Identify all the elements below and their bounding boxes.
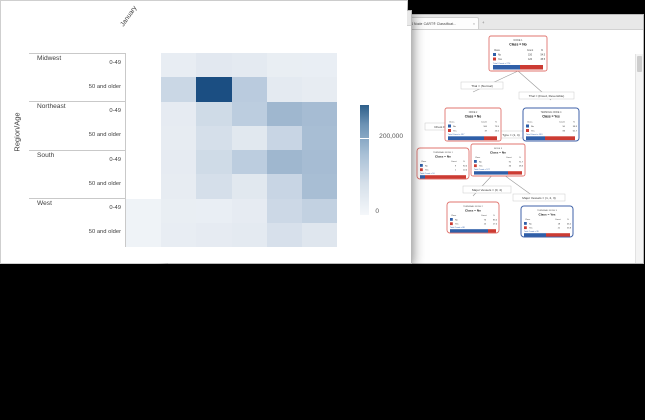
cart-node-3-class: Class = No [490, 150, 506, 154]
cart-node-root-h1: Count [527, 49, 533, 52]
heatmap-group-midwest-name: Midwest [37, 55, 61, 62]
cart-node-t3-class: Class = Yes [538, 212, 555, 216]
cart-node-3-h1: Count [506, 156, 512, 159]
cart-node-3-h2: % [519, 157, 521, 159]
heatmap-cell [232, 77, 267, 101]
close-icon[interactable]: × [473, 22, 475, 26]
heatmap-west-sub-0: 0-49 [109, 205, 121, 211]
cart-edge-label-5: Major Vessels = (1, 2, 3) [522, 196, 555, 200]
heatmap-group-northeast-name: Northeast [37, 103, 66, 110]
heatmap-cell [302, 77, 337, 101]
heatmap-cell [161, 53, 196, 77]
cart-node-2[interactable]: NODE 2 Class = No Class Count % No 100 7… [445, 108, 501, 141]
cart-window-body: HeartTableAndResults.MTW 4 Node CART® Cl… [401, 30, 643, 264]
heatmap-inner: Region/Age January Midwest 0-49 50 and o… [1, 1, 407, 263]
cart-node-3-h0: Class [475, 157, 480, 159]
heatmap-y-axis-title: Region/Age [13, 112, 22, 151]
heatmap-cell [232, 53, 267, 77]
cart-node-root-r0c2: 54.5 [541, 55, 546, 57]
cart-node-3[interactable]: NODE 3 Class = No Class Count % No 91 71… [471, 144, 525, 176]
heatmap-cell [302, 150, 337, 174]
cart-node-3-total: Total Count = 127 [474, 168, 491, 171]
cart-node-root-total: Total Count = 270 [493, 62, 511, 65]
cart-node-t3-total: Total Count = 39 [524, 230, 540, 233]
heatmap-cell [161, 150, 196, 174]
heatmap-cell [302, 174, 337, 198]
cart-node-t4-h2: % [573, 122, 575, 124]
heatmap-cell [302, 223, 337, 247]
cart-node-t1-r1c0: Yes [425, 170, 428, 172]
heatmap-cell [196, 150, 231, 174]
heatmap-south-sub-1: 50 and older [89, 181, 121, 187]
heatmap-cell [232, 174, 267, 198]
cart-vscroll-thumb[interactable] [637, 56, 642, 72]
cart-node-t4-total: Total Count = 133 [526, 133, 543, 136]
heatmap-cell [126, 150, 161, 174]
cart-vertical-scrollbar[interactable] [635, 54, 643, 264]
cart-node-t3-h1: Count [555, 218, 561, 221]
cart-node-2-h0: Class [449, 122, 455, 124]
cart-node-t3-h0: Class [525, 219, 530, 221]
heatmap-group-south: South 0-49 50 and older [29, 151, 125, 199]
heatmap-cell [232, 223, 267, 247]
cart-titlebar[interactable]: 4 Node CART® Classificat... × + [401, 15, 643, 30]
heatmap-cell [302, 199, 337, 223]
cart-node-terminal-2[interactable]: TERMINAL NODE 2 Class = No Class Count %… [447, 202, 499, 233]
cart-edge-label-4: Major Vessels = (0, 4) [472, 188, 502, 192]
heatmap-group-midwest: Midwest 0-49 50 and older [29, 54, 125, 102]
heatmap-cell [196, 199, 231, 223]
add-tab-icon[interactable]: + [482, 20, 484, 25]
cart-node-t4-class: Class = Yes [542, 115, 560, 119]
colorbar-max-label: 200,000 [379, 133, 403, 140]
cart-node-t1-h2: % [463, 161, 465, 163]
cart-node-t2-r1c0: Yes [455, 224, 458, 226]
heatmap-group-west-name: West [37, 200, 52, 207]
cart-edge-label-0: Thal = (Normal) [471, 84, 493, 88]
heatmap-cell [126, 126, 161, 150]
cart-node-terminal-4[interactable]: TERMINAL NODE 4 Class = Yes Class Count … [523, 108, 579, 141]
window-heatmap[interactable]: Region/Age January Midwest 0-49 50 and o… [0, 0, 408, 264]
cart-node-root[interactable]: NODE 1 Class = No Class Count % No 150 5… [489, 36, 547, 71]
cart-node-3-r1c0: Yes [479, 166, 482, 168]
window-cart-classification[interactable]: 4 Node CART® Classificat... × + HeartTab… [400, 14, 644, 264]
heatmap-cell [196, 223, 231, 247]
heatmap-cell [302, 126, 337, 150]
heatmap-cell [126, 53, 161, 77]
cart-node-2-total: Total Count = 137 [448, 133, 465, 136]
heatmap-midwest-sub-1: 50 and older [89, 84, 121, 90]
colorbar-min-label: 0 [375, 208, 379, 215]
cart-node-root-class: Class = No [509, 43, 526, 47]
heatmap-cell [196, 174, 231, 198]
cart-node-2-h1: Count [481, 121, 487, 124]
heatmap-cell [126, 223, 161, 247]
cart-node-t2-total: Total Count = 88 [450, 226, 466, 229]
heatmap-cell [267, 102, 302, 126]
heatmap-cell [161, 126, 196, 150]
heatmap-cell [302, 53, 337, 77]
cart-node-terminal-3[interactable]: TERMINAL NODE 3 Class = Yes Class Count … [521, 206, 573, 237]
cart-node-t3-h2: % [567, 219, 569, 221]
desktop-background: 4 Node CART® Classificat... × + HeartTab… [0, 0, 645, 420]
cart-node-t4-h0: Class [527, 122, 533, 124]
heatmap-cell [126, 199, 161, 223]
heatmap-cells [125, 53, 337, 247]
heatmap-cell [302, 102, 337, 126]
heatmap-west-sub-1: 50 and older [89, 229, 121, 235]
cart-node-t2-h2: % [493, 215, 495, 217]
heatmap-cell [196, 77, 231, 101]
heatmap-cell [267, 199, 302, 223]
heatmap-cell [126, 174, 161, 198]
cart-node-t1-total: Total Count = 10 [420, 172, 436, 175]
heatmap-cell [161, 174, 196, 198]
heatmap-midwest-sub-0: 0-49 [109, 60, 121, 66]
heatmap-group-northeast: Northeast 0-49 50 and older [29, 102, 125, 150]
heatmap-cell [126, 102, 161, 126]
cart-node-t4-h1: Count [559, 121, 565, 124]
cart-node-t1-h0: Class [421, 161, 426, 163]
heatmap-cell [161, 77, 196, 101]
heatmap-cell [267, 174, 302, 198]
cart-node-terminal-1[interactable]: TERMINAL NODE 1 Class = No Class Count %… [417, 148, 469, 179]
cart-edge-label-1: Thal = (Fixed, Reversible) [529, 94, 565, 98]
cart-node-t3-r1c0: Yes [529, 228, 532, 230]
heatmap-group-south-name: South [37, 152, 54, 159]
heatmap-cell [126, 77, 161, 101]
cart-node-t1-class: Class = No [435, 154, 451, 158]
cart-node-root-r1c2: 45.5 [541, 59, 546, 61]
heatmap-cell [267, 126, 302, 150]
heatmap-cell [232, 199, 267, 223]
heatmap-group-west: West 0-49 50 and older [29, 199, 125, 247]
cart-node-root-h2: % [541, 50, 543, 52]
cart-tab-label: 4 Node CART® Classificat... [411, 22, 471, 26]
heatmap-cell [161, 223, 196, 247]
heatmap-cell [267, 150, 302, 174]
heatmap-northeast-sub-0: 0-49 [109, 108, 121, 114]
heatmap-cell [196, 53, 231, 77]
cart-node-t2-h0: Class [451, 215, 456, 217]
heatmap-northeast-sub-1: 50 and older [89, 132, 121, 138]
cart-node-t2-h1: Count [481, 214, 487, 217]
cart-node-t2-class: Class = No [465, 208, 481, 212]
heatmap-column-header: January [119, 5, 138, 28]
cart-node-t1-h1: Count [451, 160, 457, 163]
heatmap-cell [161, 102, 196, 126]
heatmap-cell [232, 126, 267, 150]
heatmap-row-labels: Midwest 0-49 50 and older Northeast 0-49… [29, 53, 125, 247]
heatmap-cell [267, 223, 302, 247]
heatmap-cell [196, 102, 231, 126]
heatmap-cell [267, 53, 302, 77]
cart-node-root-h0: Class [494, 50, 501, 52]
cart-tree-canvas: Thal = (Normal) Thal = (Fixed, Reversibl… [401, 30, 636, 264]
heatmap-cell [267, 77, 302, 101]
cart-tree-svg: Thal = (Normal) Thal = (Fixed, Reversibl… [401, 30, 636, 240]
cart-node-2-class: Class = No [465, 115, 481, 119]
heatmap-south-sub-0: 0-49 [109, 157, 121, 163]
heatmap-cell [232, 102, 267, 126]
cart-tab[interactable]: 4 Node CART® Classificat... × [407, 17, 479, 29]
heatmap-cell [196, 126, 231, 150]
colorbar-tick-max [360, 138, 369, 139]
heatmap-colorbar [360, 105, 369, 215]
cart-node-2-h2: % [495, 122, 497, 124]
heatmap-cell [161, 199, 196, 223]
heatmap-cell [232, 150, 267, 174]
